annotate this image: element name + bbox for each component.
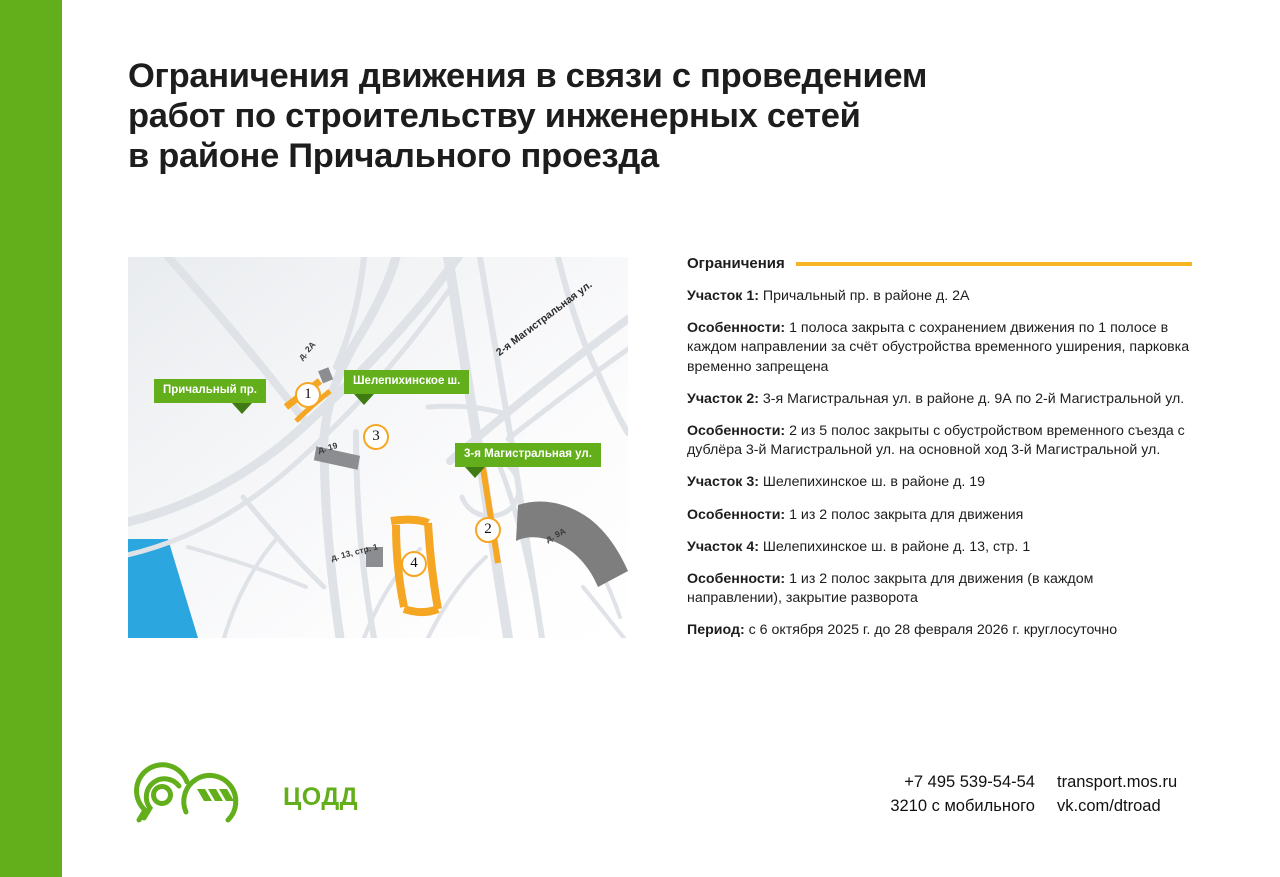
restriction-period: Период: с 6 октября 2025 г. до 28 феврал… [687, 621, 1192, 640]
restriction-item: Особенности: 2 из 5 полос закрыты с обус… [687, 422, 1192, 460]
restriction-text: Шелепихинское ш. в районе д. 19 [759, 474, 985, 490]
restriction-label: Участок 4: [687, 539, 759, 555]
restriction-label: Особенности: [687, 423, 785, 439]
map-marker-3[interactable]: 3 [363, 424, 389, 450]
restriction-text: Причальный пр. в районе д. 2А [759, 288, 970, 304]
page-title-line-1: Ограничения движения в связи с проведени… [128, 56, 1208, 96]
restriction-item: Особенности: 1 из 2 полос закрыта для дв… [687, 570, 1192, 608]
restrictions-heading-row: Ограничения [687, 255, 1192, 272]
map-badge-3ya-magistralnaya[interactable]: 3-я Магистральная ул. [455, 443, 601, 467]
page-title-line-3: в районе Причального проезда [128, 136, 1208, 176]
map-panel[interactable]: Причальный пр. Шелепихинское ш. 3-я Маги… [128, 257, 628, 638]
map-badge-label: Шелепихинское ш. [353, 375, 460, 387]
contact-vk[interactable]: vk.com/dtroad [1057, 794, 1177, 818]
restriction-label: Особенности: [687, 571, 785, 587]
restrictions-heading: Ограничения [687, 255, 785, 272]
map-marker-4[interactable]: 4 [401, 551, 427, 577]
restriction-label: Особенности: [687, 507, 785, 523]
location-pin-stripes-icon [184, 775, 236, 820]
contact-phone[interactable]: +7 495 539-54-54 [860, 770, 1035, 794]
map-marker-1[interactable]: 1 [295, 382, 321, 408]
restriction-item: Особенности: 1 из 2 полос закрыта для дв… [687, 506, 1192, 525]
restriction-item: Участок 3: Шелепихинское ш. в районе д. … [687, 473, 1192, 492]
restriction-item: Особенности: 1 полоса закрыта с сохранен… [687, 319, 1192, 377]
map-badge-shelepikhinskoe[interactable]: Шелепихинское ш. [344, 370, 469, 394]
heading-accent-rule [796, 262, 1192, 266]
restriction-text: 1 из 2 полос закрыта для движения [785, 507, 1023, 523]
map-badge-prichalny[interactable]: Причальный пр. [154, 379, 266, 403]
badge-pointer-icon [232, 403, 252, 414]
page-title-line-2: работ по строительству инженерных сетей [128, 96, 1208, 136]
restriction-item: Участок 2: 3-я Магистральная ул. в район… [687, 390, 1192, 409]
badge-pointer-icon [354, 394, 374, 405]
location-pin-rings-icon [137, 765, 187, 820]
restriction-text: 3-я Магистральная ул. в районе д. 9А по … [759, 391, 1184, 407]
restriction-item: Участок 4: Шелепихинское ш. в районе д. … [687, 538, 1192, 557]
map-badge-label: 3-я Магистральная ул. [464, 448, 592, 460]
page-title: Ограничения движения в связи с проведени… [128, 56, 1208, 176]
brand-name: ЦОДД [283, 783, 358, 812]
restriction-label: Участок 2: [687, 391, 759, 407]
restriction-label: Особенности: [687, 320, 785, 336]
restriction-item: Участок 1: Причальный пр. в районе д. 2А [687, 287, 1192, 306]
map-badge-label: Причальный пр. [163, 384, 257, 396]
restriction-label: Участок 3: [687, 474, 759, 490]
restriction-label: Участок 1: [687, 288, 759, 304]
badge-pointer-icon [465, 467, 485, 478]
cott-logo [131, 762, 281, 839]
restriction-text: с 6 октября 2025 г. до 28 февраля 2026 г… [745, 622, 1117, 638]
restriction-text: Шелепихинское ш. в районе д. 13, стр. 1 [759, 539, 1030, 555]
map-marker-2[interactable]: 2 [475, 517, 501, 543]
restrictions-panel: Ограничения Участок 1: Причальный пр. в … [687, 255, 1192, 654]
contact-website[interactable]: transport.mos.ru [1057, 770, 1177, 794]
brand-side-stripe [0, 0, 62, 877]
footer-contacts: +7 495 539-54-54 3210 с мобильного trans… [860, 770, 1190, 818]
contact-mobile[interactable]: 3210 с мобильного [860, 794, 1035, 818]
restriction-label: Период: [687, 622, 745, 638]
